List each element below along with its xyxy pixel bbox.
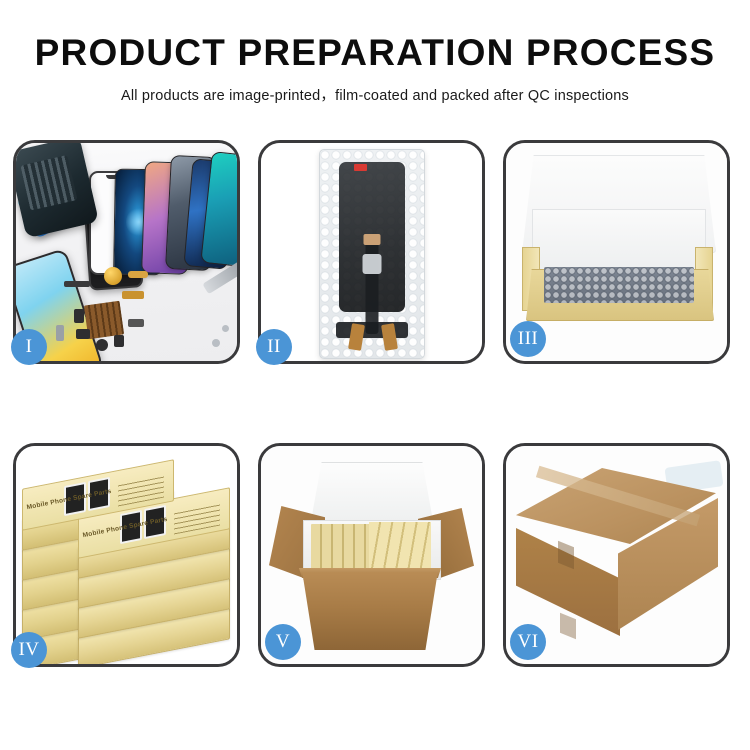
adhesive-tab-icon [363, 234, 380, 245]
sim-tray-icon [56, 325, 64, 341]
step-image-stacked-retail-boxes: Mobile Phone Spare Parts Mobile Phone Sp… [16, 446, 237, 664]
screen-bottom-bar-icon [336, 322, 408, 338]
step-numeral: I [26, 336, 33, 358]
flex-cable-icon [128, 271, 148, 278]
product-preparation-infographic: PRODUCT PREPARATION PROCESS All products… [0, 0, 750, 750]
carton-handle-notch-icon [560, 613, 576, 639]
carton-body-icon [293, 572, 447, 650]
small-part-icon [64, 281, 90, 287]
step-badge-5: V [265, 624, 301, 660]
small-part-icon [128, 319, 144, 327]
flex-cable-icon [365, 238, 378, 334]
process-step-card-1: I [13, 140, 240, 364]
step-badge-6: VI [510, 624, 546, 660]
process-step-card-5: V [258, 443, 485, 667]
step-badge-4: IV [11, 632, 47, 668]
process-steps-grid: I II [13, 140, 737, 667]
screw-icon [212, 339, 220, 347]
step-badge-1: I [11, 329, 47, 365]
step-numeral: V [276, 631, 290, 653]
small-part-icon [114, 335, 124, 347]
step-image-phone-parts-collage [16, 143, 237, 361]
process-step-card-6: VI [503, 443, 730, 667]
packed-retail-boxes-icon [369, 522, 431, 572]
red-qc-sticker-icon [354, 164, 367, 171]
page-subtitle: All products are image-printed，film-coat… [0, 84, 750, 105]
step-numeral: II [267, 336, 281, 358]
step-numeral: III [518, 328, 538, 350]
step-badge-2: II [256, 329, 292, 365]
step-image-bubble-wrapped-screen [261, 143, 482, 361]
screw-icon [222, 325, 229, 332]
small-part-icon [76, 329, 90, 339]
bubble-wrap-bag [319, 149, 425, 359]
phone-logic-board-icon [16, 143, 99, 238]
process-step-card-4: Mobile Phone Spare Parts Mobile Phone Sp… [13, 443, 240, 667]
process-step-card-3: III [503, 140, 730, 364]
connector-pad-icon [362, 254, 381, 274]
box-stack: Mobile Phone Spare Parts Mobile Phone Sp… [18, 456, 237, 662]
bubble-wrapped-contents-icon [544, 267, 694, 303]
header: PRODUCT PREPARATION PROCESS All products… [0, 0, 750, 105]
page-title: PRODUCT PREPARATION PROCESS [0, 34, 750, 71]
button-part-icon [96, 339, 108, 351]
small-part-icon [74, 309, 84, 323]
speaker-coin-icon [104, 267, 122, 285]
process-step-card-2: II [258, 140, 485, 364]
step-numeral: VI [517, 631, 538, 653]
connector-icon [122, 291, 144, 299]
step-numeral: IV [18, 639, 39, 661]
step-badge-3: III [510, 321, 546, 357]
